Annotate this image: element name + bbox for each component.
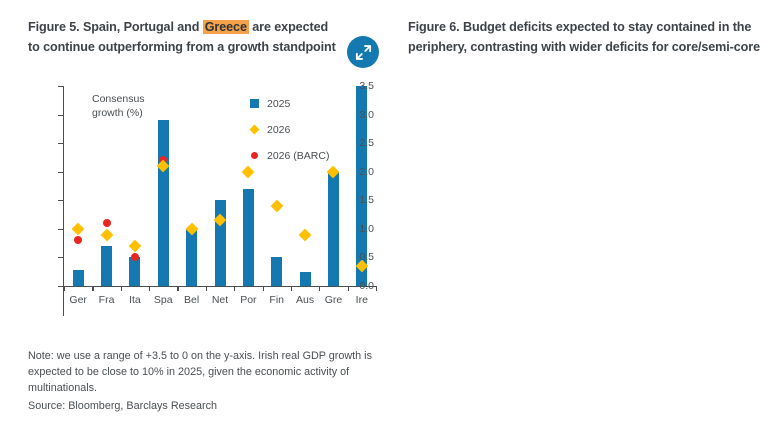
y-axis-tick-label: 1.5: [359, 194, 374, 206]
expand-diagonal-icon: [347, 43, 379, 62]
figure-5-title: Figure 5. Spain, Portugal and Greece are…: [28, 18, 338, 57]
x-axis-label-ire: Ire: [356, 294, 368, 306]
x-axis-label-bel: Bel: [184, 294, 199, 306]
marker-fra-2026: [100, 228, 113, 241]
x-axis-label-aus: Aus: [296, 294, 314, 306]
marker-ger-2026: [72, 222, 85, 235]
y-axis-tick: [58, 286, 63, 287]
bar-ger-2025: [73, 270, 84, 286]
bar-ita-2025: [129, 257, 140, 286]
x-axis-label-ita: Ita: [129, 294, 141, 306]
x-axis-tick: [121, 286, 122, 291]
legend-circle-icon: [246, 152, 262, 159]
x-axis-line: [64, 286, 376, 287]
axis-note: Consensus growth (%): [92, 92, 145, 120]
figure-5-source: Source: Bloomberg, Barclays Research: [28, 398, 217, 414]
y-axis-tick-label: 3.5: [359, 80, 374, 92]
x-axis-tick: [376, 286, 377, 291]
x-axis-tick: [319, 286, 320, 291]
x-axis-tick: [64, 286, 65, 291]
x-axis-tick: [206, 286, 207, 291]
x-axis-tick: [348, 286, 349, 291]
y-axis-tick: [58, 143, 63, 144]
legend-item-2025: 2025: [246, 94, 329, 113]
x-axis-label-fin: Fin: [269, 294, 284, 306]
bar-fin-2025: [271, 257, 282, 286]
marker-ita-2026-barc: [131, 253, 139, 261]
y-axis-tick-label: 2.0: [359, 166, 374, 178]
y-axis-tick-label: 0.0: [359, 280, 374, 292]
y-axis-tick: [58, 200, 63, 201]
y-axis-tick: [58, 257, 63, 258]
bar-bel-2025: [186, 229, 197, 286]
marker-ger-2026-barc: [74, 236, 82, 244]
y-axis-tick-label: 0.5: [359, 251, 374, 263]
legend-diamond-icon: [246, 126, 262, 133]
bar-fra-2025: [101, 246, 112, 286]
figure-5-chart: GerFraItaSpaBelNetPorFinAusGreIre Consen…: [28, 86, 378, 316]
y-axis-tick-label: 1.0: [359, 223, 374, 235]
figure-6-title: Figure 6. Budget deficits expected to st…: [408, 18, 780, 57]
marker-aus-2026: [299, 228, 312, 241]
legend-label: 2026 (BARC): [267, 150, 329, 162]
x-axis-tick: [177, 286, 178, 291]
chart-legend: 2025 2026 2026 (BARC): [246, 94, 329, 172]
legend-label: 2025: [267, 98, 290, 110]
legend-label: 2026: [267, 124, 290, 136]
x-axis-tick: [149, 286, 150, 291]
y-axis-tick-label: 3.0: [359, 109, 374, 121]
expand-chart-button[interactable]: [347, 36, 379, 68]
bar-aus-2025: [300, 272, 311, 286]
x-axis-label-spa: Spa: [154, 294, 173, 306]
x-axis-label-net: Net: [212, 294, 228, 306]
figure-5-panel: Figure 5. Spain, Portugal and Greece are…: [0, 0, 400, 430]
bar-spa-2025: [158, 120, 169, 286]
x-axis-label-gre: Gre: [325, 294, 343, 306]
bar-por-2025: [243, 189, 254, 286]
y-axis-tick: [58, 172, 63, 173]
x-axis-label-fra: Fra: [99, 294, 115, 306]
bar-gre-2025: [328, 172, 339, 286]
y-axis-tick: [58, 86, 63, 87]
figure-5-title-pre: Figure 5. Spain, Portugal and: [28, 20, 203, 34]
legend-bar-icon: [246, 99, 262, 108]
figure-5-title-highlight: Greece: [203, 20, 249, 34]
marker-ita-2026: [129, 240, 142, 253]
y-axis-tick-label: 2.5: [359, 137, 374, 149]
x-axis-tick: [291, 286, 292, 291]
x-axis-label-ger: Ger: [69, 294, 87, 306]
x-axis-tick: [92, 286, 93, 291]
figure-5-note: Note: we use a range of +3.5 to 0 on the…: [28, 348, 388, 397]
figure-6-panel: Figure 6. Budget deficits expected to st…: [400, 0, 784, 430]
x-axis-tick: [263, 286, 264, 291]
marker-fin-2026: [270, 200, 283, 213]
marker-fra-2026-barc: [103, 219, 111, 227]
legend-item-2026: 2026: [246, 120, 329, 139]
x-axis-tick: [234, 286, 235, 291]
y-axis-tick: [58, 229, 63, 230]
legend-item-2026-barc: 2026 (BARC): [246, 146, 329, 165]
figures-page: Figure 5. Spain, Portugal and Greece are…: [0, 0, 784, 430]
y-axis-tick: [58, 115, 63, 116]
x-axis-label-por: Por: [240, 294, 256, 306]
